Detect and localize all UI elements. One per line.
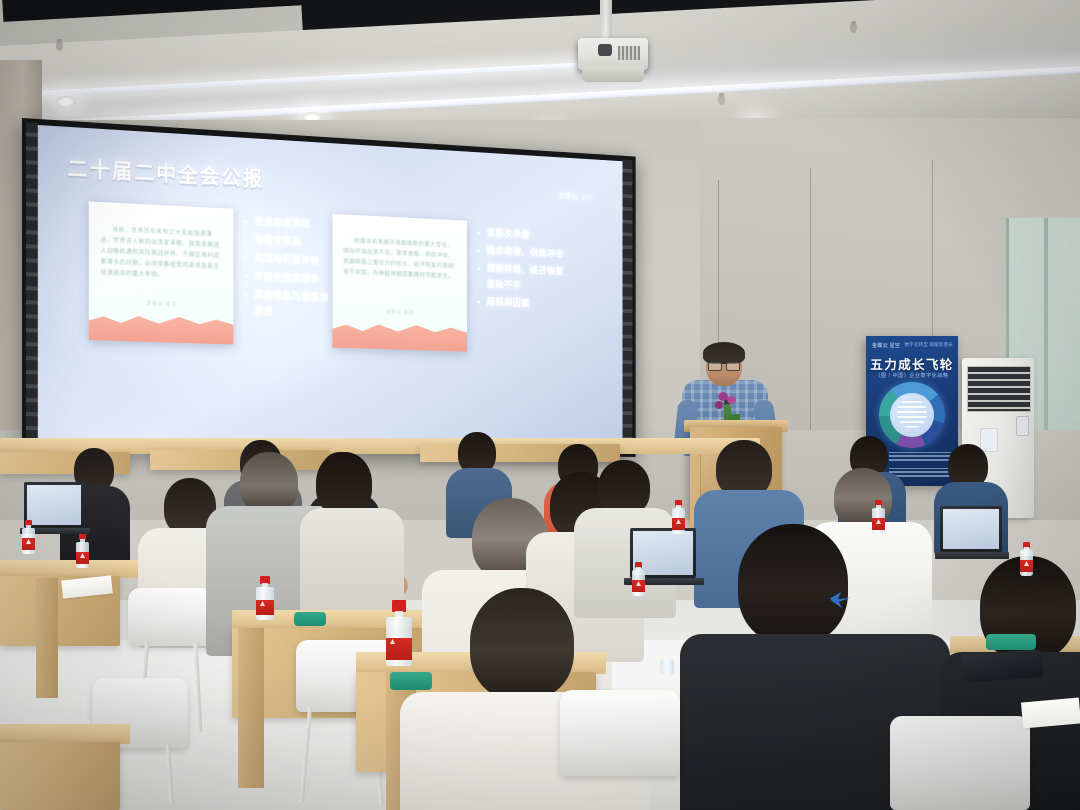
slide-logo-brand: 金蝶云: [557, 190, 577, 201]
wall-seam-2: [932, 160, 933, 360]
bullet-item: 超预期因素: [477, 294, 571, 313]
water-bottle[interactable]: [22, 520, 35, 554]
water-bottle[interactable]: [872, 500, 887, 538]
slide-card-left-footer: 金蝶云 星空: [89, 297, 234, 309]
green-pouch[interactable]: [986, 634, 1036, 650]
bottle-label: [672, 518, 685, 530]
desk-leg: [238, 628, 264, 788]
attendee-head: [738, 524, 848, 644]
water-bottle[interactable]: [1020, 542, 1036, 584]
bullet-item: 变局加速演进: [245, 213, 337, 234]
banner-title: 五力成长飞轮: [866, 354, 958, 373]
slide-card-right-footer: 金蝶云 星空: [332, 306, 466, 318]
bullet-item: 风高浪急乃至惊涛骇浪: [245, 287, 337, 323]
bullet-item: 深层次矛盾: [477, 225, 571, 245]
banner-logo: 金蝶云 星空: [872, 342, 900, 349]
projection-screen: 二十届二中全会公报 金蝶云 星空 当前，世界百年未有之大变局加速演进，世界进入新…: [22, 118, 636, 457]
bullet-item: 预期转弱、经济恢复基础不牢: [477, 261, 571, 296]
screen-perforation-left: [26, 122, 38, 444]
sprinkler-3: [850, 24, 857, 33]
tablet-device[interactable]: [961, 649, 1043, 683]
slide-bullets-right: 深层次矛盾 需求收缩、供给冲击 预期转弱、经济恢复基础不牢 超预期因素: [477, 225, 571, 315]
chair[interactable]: [890, 716, 1030, 810]
laptop-base: [935, 552, 1009, 559]
slide-card-right-wave: [332, 315, 466, 352]
bullet-item: 机遇与风险并存: [245, 250, 337, 270]
laptop-screen: [943, 509, 999, 549]
slide-card-left-wave: [89, 306, 234, 344]
kingdee-dots-icon: [545, 190, 554, 201]
ac-brand-badge: [980, 428, 998, 452]
slide-card-right: 我国当前发展环境面临新的重大变化，国际环境动荡不安，需求收缩、供给冲击、预期转弱…: [332, 214, 466, 352]
water-bottle[interactable]: [632, 562, 648, 602]
slide-brand-logo: 金蝶云 星空: [545, 190, 593, 203]
banner-subtitle: （图 / 中国）企业数字化战略: [866, 372, 958, 379]
projector-lower-housing: [582, 66, 644, 82]
chair[interactable]: [128, 588, 214, 646]
bottle-label: [872, 518, 885, 530]
banner-text-lines: [889, 468, 951, 477]
downlight-1: [56, 96, 76, 108]
slide-card-right-text: 我国当前发展环境面临新的重大变化，国际环境动荡不安，需求收缩、供给冲击、预期转弱…: [343, 235, 456, 282]
attendee-head: [240, 452, 298, 514]
bottle-label: [76, 552, 89, 564]
handout-paper[interactable]: [1021, 698, 1080, 729]
wall-seam-1: [810, 168, 811, 448]
bottle-label: [386, 638, 412, 660]
green-pouch[interactable]: [390, 672, 432, 690]
banner-text-lines: [889, 452, 951, 461]
desk-row-front-bottom: [0, 724, 130, 744]
attendee-head: [316, 452, 372, 516]
attendee-head: [470, 588, 574, 700]
sprinkler-2: [718, 96, 725, 105]
slide-logo-sub: 星空: [581, 192, 593, 202]
slide-card-left: 当前，世界百年未有之大变局加速演进，世界进入新的动荡变革期，我国发展进入战略机遇…: [89, 201, 234, 344]
bottle-label: [256, 600, 274, 615]
slide-title: 二十届二中全会公报: [67, 153, 264, 193]
drinking-cup[interactable]: [660, 660, 674, 675]
bottle-label: [632, 580, 645, 592]
conference-room-photo: 二十届二中全会公报 金蝶云 星空 当前，世界百年未有之大变局加速演进，世界进入新…: [0, 0, 1080, 810]
bullet-item: 动荡变革期: [245, 232, 337, 253]
water-bottle[interactable]: [256, 576, 274, 620]
slide-content: 二十届二中全会公报 金蝶云 星空 当前，世界百年未有之大变局加速演进，世界进入新…: [38, 125, 623, 451]
ac-louvers-icon: [967, 366, 1031, 412]
projector-mount-pole: [600, 0, 612, 42]
flywheel-core-icon: [897, 398, 927, 428]
water-bottle[interactable]: [76, 534, 89, 568]
speaker-hair: [703, 342, 745, 364]
desk-leg: [36, 578, 58, 698]
screen-perforation-right: [622, 159, 632, 453]
water-bottle[interactable]: [672, 500, 686, 536]
bottle-label: [1020, 560, 1033, 572]
flower-petal: [727, 396, 736, 404]
laptop-screen: [27, 485, 81, 525]
bottle-label: [22, 538, 35, 550]
green-pouch[interactable]: [294, 612, 326, 626]
projector-vent-icon: [618, 46, 640, 60]
slide-bullets-left: 变局加速演进 动荡变革期 机遇与风险并存 不确定因素增多 风高浪急乃至惊涛骇浪: [245, 213, 337, 324]
chair[interactable]: [560, 690, 680, 776]
glasses-icon: [708, 362, 740, 369]
projector-lens-icon: [598, 44, 612, 56]
ac-control-panel[interactable]: [1016, 416, 1029, 436]
slide-card-left-text: 当前，世界百年未有之大变局加速演进，世界进入新的动荡变革期，我国发展进入战略机遇…: [100, 224, 222, 283]
flower-petal: [715, 401, 723, 409]
sprinkler-1: [56, 42, 63, 51]
water-bottle[interactable]: [386, 600, 412, 666]
desk-front-bottom: [0, 742, 120, 810]
bullet-item: 不确定因素增多: [245, 268, 337, 288]
bullet-item: 需求收缩、供给冲击: [477, 243, 571, 263]
banner-tagline: 数字化转型 赋能新增长: [905, 342, 953, 348]
